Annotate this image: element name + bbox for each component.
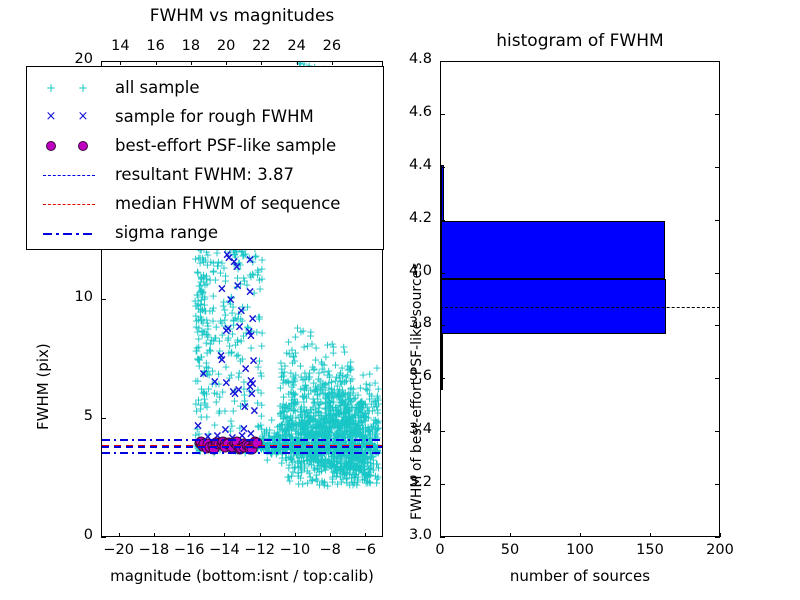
tick-label: −12: [244, 542, 275, 558]
tick-label: 20: [217, 38, 235, 54]
tick-mark: [440, 537, 445, 538]
tick-label: −8: [319, 542, 340, 558]
tick-mark: [715, 431, 720, 432]
tick-mark: [715, 220, 720, 221]
legend-marker-glyphs: [27, 160, 115, 189]
tick-label: −6: [355, 542, 376, 558]
tick-mark: [715, 537, 720, 538]
histogram-bar: [441, 221, 665, 279]
tick-label: −14: [209, 542, 240, 558]
tick-mark: [101, 537, 106, 538]
tick-mark: [154, 533, 155, 537]
tick-mark: [715, 167, 720, 168]
dashdot-line-icon: [43, 233, 95, 235]
tick-mark: [440, 220, 445, 221]
legend-label: all sample: [115, 78, 200, 97]
legend-marker-glyphs: [27, 218, 115, 247]
tick-mark: [260, 533, 261, 537]
legend-entry: sigma range: [27, 218, 383, 247]
tick-mark: [191, 61, 192, 65]
tick-label: 50: [501, 542, 519, 558]
tick-label: 26: [323, 38, 341, 54]
tick-mark: [720, 533, 721, 537]
tick-mark: [224, 533, 225, 537]
legend-label: resultant FWHM: 3.87: [115, 165, 294, 184]
tick-label: −16: [174, 542, 205, 558]
tick-label: 10: [75, 289, 93, 305]
tick-label: 14: [111, 38, 129, 54]
legend-marker: [27, 160, 115, 189]
right-panel-title: histogram of FWHM: [440, 31, 720, 51]
tick-label: 0: [435, 542, 444, 558]
left-panel-title: FWHM vs magnitudes: [101, 6, 383, 26]
tick-label: 4.8: [409, 51, 432, 67]
tick-mark: [440, 273, 445, 274]
tick-label: −18: [139, 542, 170, 558]
histogram-bar: [441, 334, 443, 390]
tick-mark: [101, 418, 106, 419]
tick-mark: [715, 273, 720, 274]
cross-marker-icon: ×: [78, 111, 89, 123]
left-xlabel: magnitude (bottom:isnt / top:calib): [101, 567, 383, 585]
tick-mark: [330, 533, 331, 537]
tick-label: 18: [182, 38, 200, 54]
tick-mark: [226, 61, 227, 65]
tick-mark: [365, 533, 366, 537]
legend-box: ++all sample××sample for rough FWHMbest-…: [26, 66, 384, 250]
tick-mark: [189, 533, 190, 537]
plus-marker-icon: +: [78, 82, 88, 94]
tick-mark: [120, 61, 121, 65]
plus-marker-icon: +: [46, 82, 56, 94]
legend-marker-glyphs: ××: [27, 102, 115, 131]
tick-mark: [440, 325, 445, 326]
tick-label: −10: [280, 542, 311, 558]
cross-marker-icon: ×: [46, 111, 57, 123]
tick-label: −20: [103, 542, 134, 558]
tick-label: 200: [706, 542, 734, 558]
dot-marker-icon: [46, 141, 56, 151]
tick-mark: [715, 378, 720, 379]
tick-mark: [440, 378, 445, 379]
tick-label: 4.2: [409, 210, 432, 226]
legend-entry: ××sample for rough FWHM: [27, 102, 383, 131]
figure-canvas: FWHM vs magnitudes +++++++++++++++++++++…: [0, 0, 800, 600]
tick-label: 4.6: [409, 104, 432, 120]
tick-label: 22: [252, 38, 270, 54]
legend-marker-glyphs: ++: [27, 73, 115, 102]
histogram-bar: [441, 165, 444, 221]
tick-mark: [119, 533, 120, 537]
tick-mark: [580, 533, 581, 537]
legend-marker-glyphs: [27, 189, 115, 218]
histogram-axes: [440, 61, 720, 537]
tick-label: 16: [146, 38, 164, 54]
legend-marker: ××: [27, 102, 115, 131]
tick-mark: [440, 431, 445, 432]
legend-marker: [27, 131, 115, 160]
tick-mark: [440, 61, 445, 62]
tick-mark: [510, 533, 511, 537]
tick-label: 4.4: [409, 157, 432, 173]
dashed-line-icon: [43, 204, 95, 205]
tick-mark: [261, 61, 262, 65]
tick-mark: [101, 299, 106, 300]
tick-mark: [715, 325, 720, 326]
right-xlabel: number of sources: [440, 567, 720, 585]
legend-label: sigma range: [115, 223, 218, 242]
legend-marker-glyphs: [27, 131, 115, 160]
tick-label: 150: [636, 542, 664, 558]
dashed-line-icon: [43, 175, 95, 176]
tick-mark: [440, 114, 445, 115]
sigma-range-upper-line: [102, 439, 382, 441]
resultant-fwhm-line: [102, 446, 382, 448]
legend-entry: resultant FWHM: 3.87: [27, 160, 383, 189]
tick-label: 100: [566, 542, 594, 558]
tick-mark: [332, 61, 333, 65]
legend-label: sample for rough FWHM: [115, 107, 314, 126]
histogram-bars-layer: [441, 62, 719, 536]
tick-mark: [715, 61, 720, 62]
sigma-range-lower-line: [102, 452, 382, 454]
dot-marker-icon: [78, 141, 88, 151]
legend-marker: [27, 189, 115, 218]
tick-mark: [440, 167, 445, 168]
tick-mark: [650, 533, 651, 537]
right-ylabel: FWHM of best-effort PSF-like sources: [409, 263, 425, 520]
tick-mark: [715, 484, 720, 485]
tick-label: 0: [84, 527, 93, 543]
legend-label: best-effort PSF-like sample: [115, 136, 336, 155]
tick-label: 5: [84, 408, 93, 424]
tick-mark: [101, 61, 106, 62]
tick-mark: [715, 114, 720, 115]
left-ylabel: FWHM (pix): [34, 343, 52, 430]
tick-mark: [156, 61, 157, 65]
tick-label: 24: [287, 38, 305, 54]
legend-entry: ++all sample: [27, 73, 383, 102]
legend-entry: best-effort PSF-like sample: [27, 131, 383, 160]
tick-mark: [440, 484, 445, 485]
legend-marker: ++: [27, 73, 115, 102]
tick-mark: [297, 61, 298, 65]
tick-label: 3.0: [409, 527, 432, 543]
legend-label: median FHWM of sequence: [115, 194, 340, 213]
tick-mark: [295, 533, 296, 537]
legend-entry: median FHWM of sequence: [27, 189, 383, 218]
legend-marker: [27, 218, 115, 247]
tick-label: 20: [75, 51, 93, 67]
histogram-resultant-fwhm-line: [440, 307, 720, 308]
